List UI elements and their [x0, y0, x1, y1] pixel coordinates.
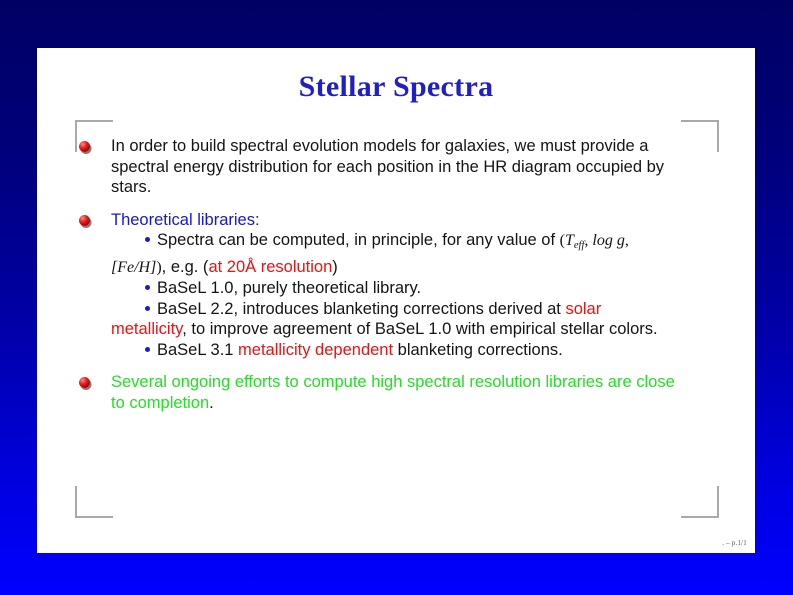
- sub-bullet-item-2: BaSeL 1.0, purely theoretical library.: [111, 278, 677, 299]
- sub-bullet-item-1: Spectra can be computed, in principle, f…: [111, 230, 677, 278]
- sub-bullet-item-4: BaSeL 3.1 metallicity dependent blanketi…: [111, 340, 677, 361]
- red-ball-bullet-icon: [79, 215, 90, 226]
- metallicity-dependent-highlight: metallicity dependent: [238, 341, 393, 359]
- spacer: [111, 364, 677, 372]
- bullet-1-text: In order to build spectral evolution mod…: [111, 136, 677, 198]
- sub-bullet-4-text-part2: blanketing corrections.: [393, 341, 563, 359]
- presentation-background: Stellar Spectra In order to build spectr…: [0, 0, 793, 595]
- formula-comma-2: ,: [625, 232, 629, 249]
- sub-bullet-2-text: BaSeL 1.0, purely theoretical library.: [157, 279, 421, 297]
- spacer: [111, 202, 677, 210]
- bullet-item-1: In order to build spectral evolution mod…: [111, 136, 677, 198]
- bullet-3-green-text: Several ongoing efforts to compute high …: [111, 373, 675, 412]
- formula-comma-1: ,: [584, 232, 588, 249]
- blue-dot-bullet-icon: [145, 237, 150, 242]
- theoretical-libraries-heading: Theoretical libraries:: [111, 210, 677, 231]
- slide-canvas: Stellar Spectra In order to build spectr…: [37, 48, 755, 553]
- blue-dot-bullet-icon: [145, 347, 150, 352]
- red-ball-bullet-icon: [79, 377, 90, 388]
- bullet-item-3: Several ongoing efforts to compute high …: [111, 372, 677, 413]
- page-number-marker: . – p.1/1: [722, 539, 747, 547]
- blue-dot-bullet-icon: [145, 306, 150, 311]
- sub-bullet-1-text-part2: , e.g. (: [162, 258, 209, 276]
- formula-logg: log g: [592, 232, 624, 249]
- slide-body: In order to build spectral evolution mod…: [111, 136, 677, 417]
- corner-bracket-top-right: [681, 120, 719, 152]
- corner-bracket-bottom-right: [681, 486, 719, 518]
- bullet-item-2: Theoretical libraries: Spectra can be co…: [111, 210, 677, 361]
- formula-teff: T: [565, 232, 574, 249]
- sub-bullet-item-3: BaSeL 2.2, introduces blanketing correct…: [111, 299, 677, 340]
- formula-feh: [Fe/H]: [111, 259, 156, 276]
- bullet-3-period: .: [209, 394, 214, 412]
- resolution-highlight: at 20Å resolution: [208, 258, 332, 276]
- sub-bullet-3-text-part2: , to improve agreement of BaSeL 1.0 with…: [182, 320, 657, 338]
- sub-bullet-4-text-part1: BaSeL 3.1: [157, 341, 238, 359]
- blue-dot-bullet-icon: [145, 285, 150, 290]
- sub-bullet-1-text-part3: ): [332, 258, 338, 276]
- sub-bullet-3-text-part1: BaSeL 2.2, introduces blanketing correct…: [157, 300, 565, 318]
- sub-bullet-1-text-part1: Spectra can be computed, in principle, f…: [157, 231, 555, 249]
- formula-teff-subscript: eff: [574, 240, 585, 251]
- page-title: Stellar Spectra: [37, 70, 755, 104]
- red-ball-bullet-icon: [79, 141, 90, 152]
- corner-bracket-bottom-left: [75, 486, 113, 518]
